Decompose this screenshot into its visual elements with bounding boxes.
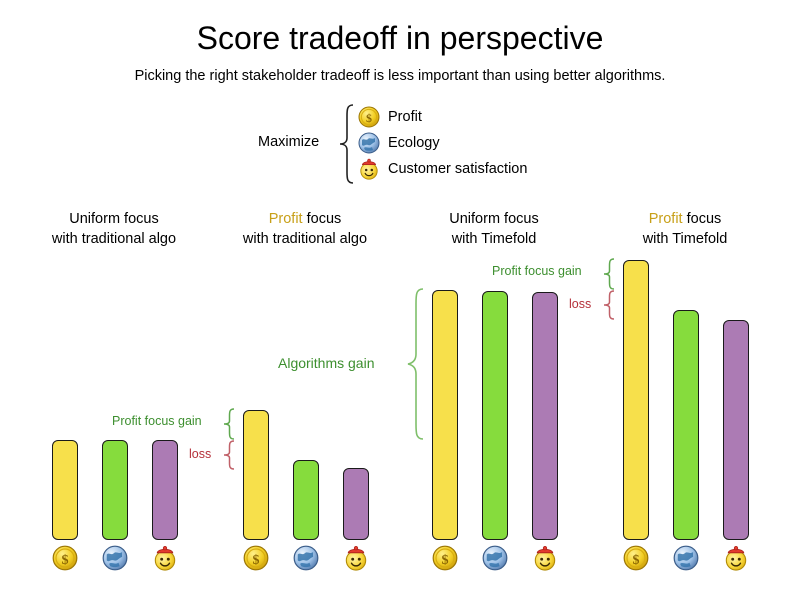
legend-label-profit: Profit [388,109,422,125]
axis-icon-g3-smiley-cap-icon [532,545,558,571]
axis-icon-g1-globe-icon [102,545,128,571]
page-subtitle: Picking the right stakeholder tradeoff i… [0,66,800,86]
bar-group2-profit [243,410,269,540]
legend-label-ecology: Ecology [388,135,440,151]
brace-profit-focus-gain-group4-icon [602,258,616,290]
page-title: Score tradeoff in perspective [0,18,800,58]
bar-group4-customer [723,320,749,540]
axis-icon-g3-globe-icon [482,545,508,571]
bar-group1-profit [52,440,78,540]
bar-group1-ecology [102,440,128,540]
legend-item-customer-satisfaction: Customer satisfaction [358,156,527,182]
annotation-profit-focus-gain-group2: Profit focus gain [112,414,202,428]
column-header-4-line1: Profit focus [649,211,722,227]
coin-dollar-icon: $ [358,106,380,128]
svg-text:$: $ [366,111,372,125]
axis-icon-g2-globe-icon [293,545,319,571]
brace-loss-group4-icon [602,290,616,320]
bar-group3-profit [432,290,458,540]
axis-icon-g4-globe-icon [673,545,699,571]
bar-group4-ecology [673,310,699,540]
globe-icon [358,132,380,154]
axis-icon-g4-smiley-cap-icon [723,545,749,571]
column-header-2-line1: Profit focus [269,211,342,227]
axis-icon-g1-smiley-cap-icon [152,545,178,571]
axis-icon-g2-smiley-cap-icon [343,545,369,571]
column-header-4: Profit focus with Timefold [585,209,785,249]
legend-items: $ Profit Ecology [358,104,527,182]
legend-title: Maximize [258,134,319,150]
bar-group2-customer [343,468,369,540]
annotation-algorithms-gain: Algorithms gain [278,356,375,370]
axis-icon-g1-coin-dollar-icon [52,545,78,571]
column-header-3-line1: Uniform focus [449,211,538,227]
bar-group3-customer [532,292,558,540]
column-header-3: Uniform focus with Timefold [394,209,594,249]
legend-item-ecology: Ecology [358,130,527,156]
column-header-1-line2: with traditional algo [52,231,176,247]
axis-icon-g4-coin-dollar-icon [623,545,649,571]
legend-brace-icon [338,104,354,184]
annotation-profit-focus-gain-group4: Profit focus gain [492,264,582,278]
bar-group3-ecology [482,291,508,540]
bar-group4-profit [623,260,649,540]
annotation-loss-group2: loss [189,447,211,461]
column-header-4-line2: with Timefold [643,231,728,247]
column-header-1: Uniform focus with traditional algo [14,209,214,249]
column-header-3-line2: with Timefold [452,231,537,247]
brace-algorithms-gain-icon [406,288,426,440]
legend-item-profit: $ Profit [358,104,527,130]
annotation-loss-group4: loss [569,297,591,311]
legend: Maximize $ Profit [258,104,558,184]
axis-icon-g2-coin-dollar-icon [243,545,269,571]
bar-group1-customer [152,440,178,540]
column-header-2-line2: with traditional algo [243,231,367,247]
column-header-2: Profit focus with traditional algo [205,209,405,249]
brace-loss-group2-icon [222,440,236,470]
bar-group2-ecology [293,460,319,540]
brace-profit-focus-gain-group2-icon [222,408,236,440]
smiley-cap-icon [358,158,380,180]
legend-label-customer-satisfaction: Customer satisfaction [388,161,527,177]
column-header-1-line1: Uniform focus [69,211,158,227]
axis-icon-g3-coin-dollar-icon [432,545,458,571]
